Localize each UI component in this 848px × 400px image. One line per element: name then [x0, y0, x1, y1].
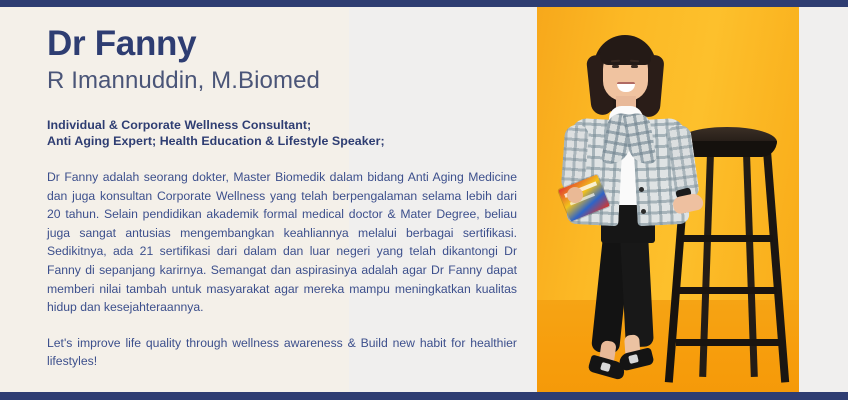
role-tagline-line-1: Individual & Corporate Wellness Consulta… — [47, 118, 517, 134]
biography-paragraph: Dr Fanny adalah seorang dokter, Master B… — [47, 168, 517, 317]
person-hand-left — [567, 187, 583, 203]
stool-leg — [763, 151, 789, 383]
blazer-button — [639, 187, 644, 192]
person-figure — [545, 29, 735, 392]
person-eye-left — [612, 65, 619, 68]
closing-paragraph: Let's improve life quality through welln… — [47, 334, 517, 371]
role-tagline: Individual & Corporate Wellness Consulta… — [47, 118, 517, 149]
person-leg-right — [620, 234, 654, 347]
credentials-line: R Imannuddin, M.Biomed — [47, 66, 517, 96]
person-hair-fringe — [600, 41, 651, 65]
top-accent-bar — [0, 0, 848, 7]
blazer-button — [641, 209, 646, 214]
portrait-photo — [537, 7, 799, 392]
profile-text-column: Dr Fanny R Imannuddin, M.Biomed Individu… — [47, 24, 517, 371]
bottom-accent-bar — [0, 392, 848, 400]
profile-card: Dr Fanny R Imannuddin, M.Biomed Individu… — [0, 0, 848, 400]
person-eye-right — [631, 65, 638, 68]
page-title: Dr Fanny — [47, 24, 517, 64]
role-tagline-line-2: Anti Aging Expert; Health Education & Li… — [47, 134, 517, 150]
